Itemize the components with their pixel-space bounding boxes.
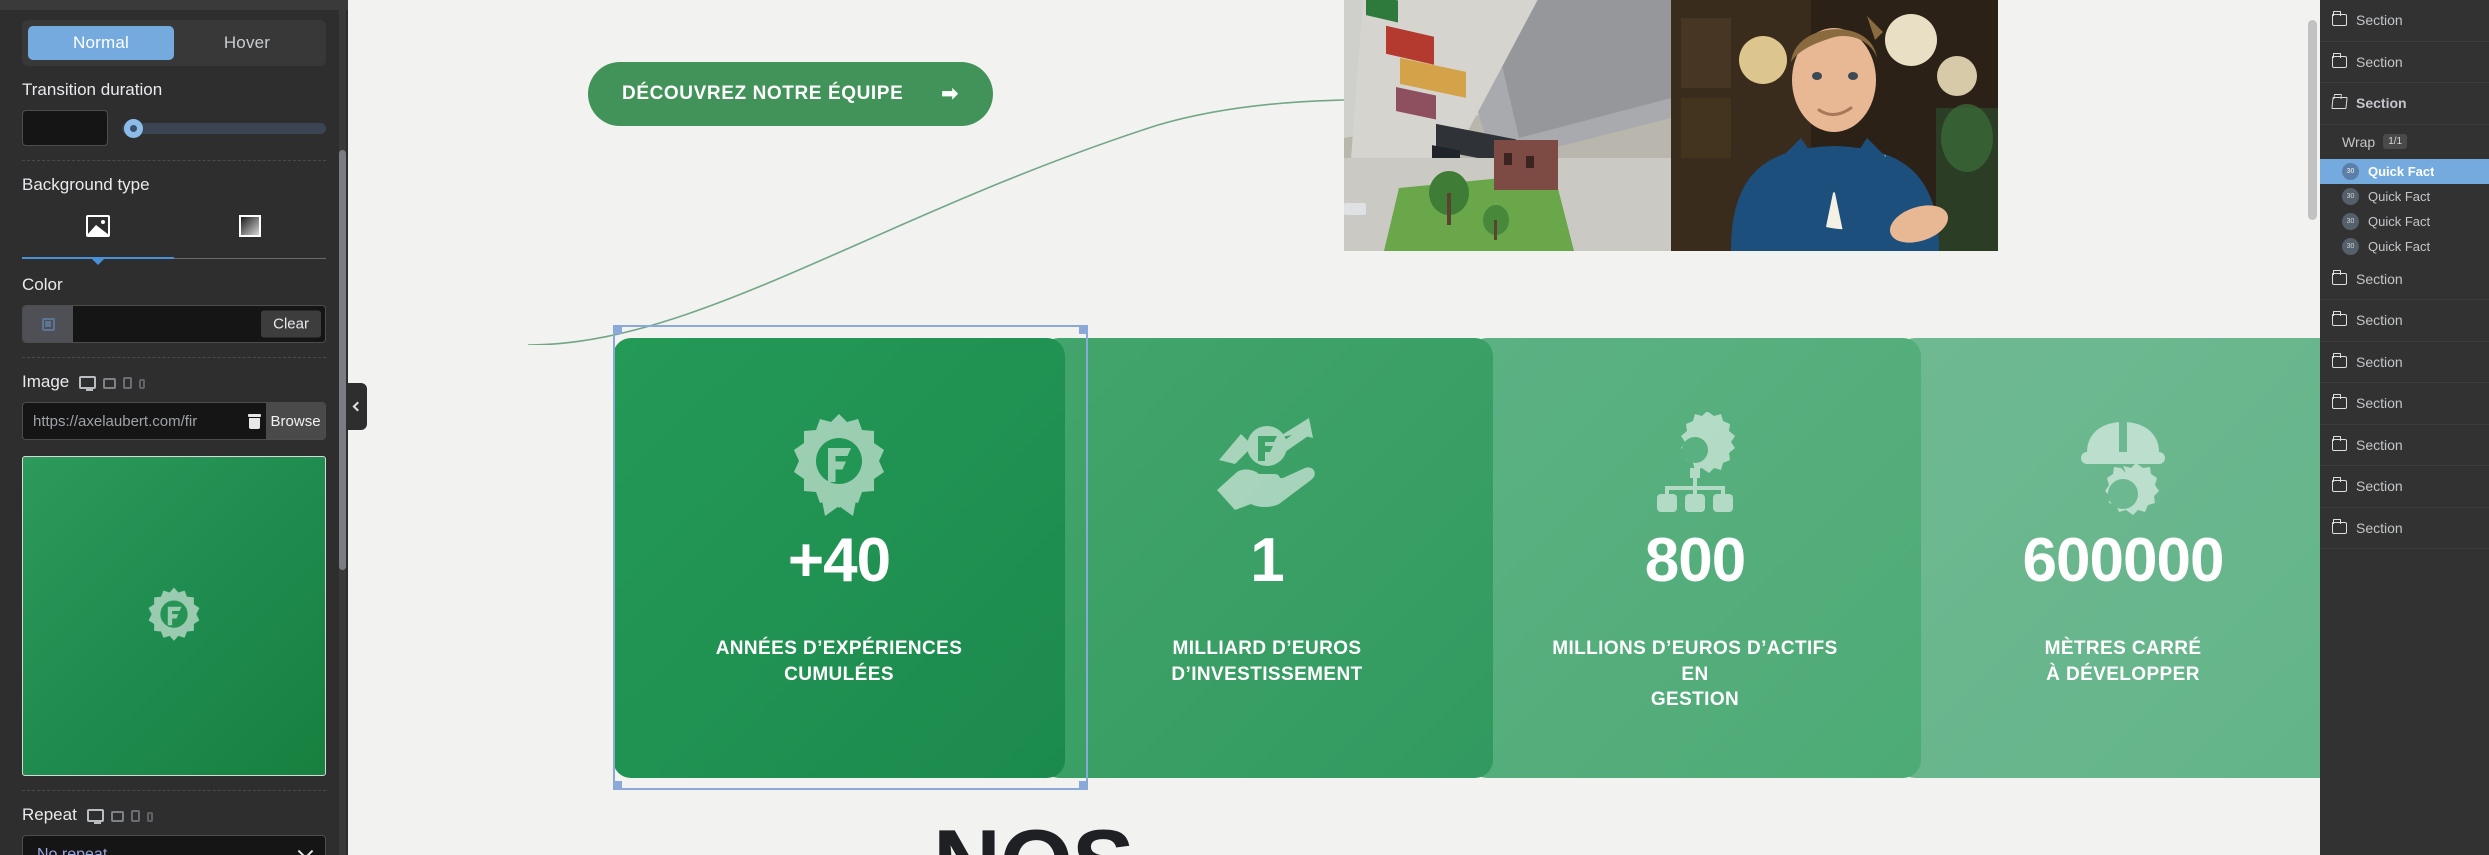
tab-caret-icon [91,258,105,265]
divider [22,790,326,791]
page-canvas: DÉCOUVREZ NOTRE ÉQUIPE ➡ [348,0,2320,855]
card-number: 600000 [2023,530,2224,592]
layer-label: Quick Fact [2368,189,2430,204]
tablet-landscape-icon[interactable] [103,378,116,389]
divider [22,160,326,161]
quick-fact-card[interactable]: +40 ANNÉES D’EXPÉRIENCES CUMULÉES [613,338,1065,778]
resize-handle-top-left[interactable] [613,325,622,334]
tab-normal[interactable]: Normal [28,26,174,60]
mobile-icon[interactable] [147,812,153,822]
warehouse-aerial-photo [1344,0,1671,251]
quick-fact-icon: 30 [2342,163,2359,180]
layer-row-section[interactable]: Section [2320,466,2489,508]
hero-photos [1344,0,1998,251]
layers-panel: SectionSectionSectionWrap1/130Quick Fact… [2320,0,2489,855]
folder-closed-icon [2332,397,2347,409]
quick-fact-card[interactable]: 800 MILLIONS D’EUROS D’ACTIFS EN GESTION [1469,338,1921,778]
gear-org-chart-icon [1647,412,1743,516]
resize-handle-bottom-right[interactable] [1079,781,1088,790]
browse-button[interactable]: Browse [266,403,325,439]
resize-handle-top-right[interactable] [1079,325,1088,334]
image-preview[interactable] [22,456,326,776]
background-type-label: Background type [22,175,326,195]
cta-label: DÉCOUVREZ NOTRE ÉQUIPE [622,83,903,105]
layer-label: Section [2356,478,2403,494]
layer-label: Section [2356,271,2403,287]
card-number: 800 [1645,530,1745,592]
folder-open-icon [2331,97,2347,109]
slider-track [122,123,326,134]
card-icon [1213,412,1321,516]
hard-hat-gear-icon [2075,412,2171,516]
folder-closed-icon [2332,314,2347,326]
transition-duration-input[interactable] [22,110,108,146]
trash-icon [248,414,261,429]
color-label: Color [22,275,326,295]
image-icon [86,215,110,237]
card-label: MILLIARD D’EUROS D’INVESTISSEMENT [1117,636,1417,687]
color-picker-icon [42,318,55,331]
layer-row-quick-fact[interactable]: 30Quick Fact [2320,184,2489,209]
desktop-icon[interactable] [87,809,104,822]
layer-row-quick-fact[interactable]: 30Quick Fact [2320,234,2489,259]
quick-fact-cards: +40 ANNÉES D’EXPÉRIENCES CUMULÉES 1 [613,338,2320,778]
folder-closed-icon [2332,273,2347,285]
slider-handle[interactable] [124,119,143,138]
repeat-select[interactable]: No repeat [22,835,326,855]
quick-fact-icon: 30 [2342,238,2359,255]
card-label: MÈTRES CARRÉ À DÉVELOPPER [1973,636,2273,687]
award-badge-icon [789,412,889,516]
color-row: Clear [22,305,326,343]
delete-image-button[interactable] [242,403,266,439]
folder-closed-icon [2332,14,2347,26]
layer-row-section[interactable]: Section [2320,342,2489,384]
layer-label: Section [2356,312,2403,328]
canvas-scrollbar-thumb[interactable] [2308,20,2317,220]
layer-row-section[interactable]: Section [2320,383,2489,425]
layer-row-section[interactable]: Section [2320,83,2489,125]
layer-label: Section [2356,520,2403,536]
layer-row-section[interactable]: Section [2320,300,2489,342]
folder-closed-icon [2332,439,2347,451]
transition-duration-row [22,110,326,146]
desktop-icon[interactable] [79,376,96,389]
folder-closed-icon [2332,480,2347,492]
background-type-image-tab[interactable] [22,205,174,247]
background-type-tabs [22,205,326,259]
layer-label: Quick Fact [2368,164,2434,179]
layer-label: Section [2356,437,2403,453]
image-device-switcher [79,376,145,389]
layer-label: Section [2356,354,2403,370]
clear-color-button[interactable]: Clear [261,311,321,338]
chevron-left-icon [353,402,363,412]
layer-label: Quick Fact [2368,214,2430,229]
panel-topbar [0,0,348,10]
tab-hover[interactable]: Hover [174,26,320,60]
quick-fact-icon: 30 [2342,213,2359,230]
layer-row-section[interactable]: Section [2320,42,2489,84]
layer-row-wrap[interactable]: Wrap1/1 [2320,125,2489,159]
repeat-label: Repeat [22,805,326,825]
folder-closed-icon [2332,56,2347,68]
mobile-icon[interactable] [139,379,145,389]
card-icon [1647,412,1743,516]
repeat-device-switcher [87,809,153,822]
layer-row-quick-fact[interactable]: 30Quick Fact [2320,159,2489,184]
card-number: +40 [788,530,890,592]
layer-row-section[interactable]: Section [2320,0,2489,42]
tablet-portrait-icon[interactable] [123,377,132,389]
layer-row-section[interactable]: Section [2320,259,2489,301]
card-label: MILLIONS D’EUROS D’ACTIFS EN GESTION [1545,636,1845,713]
resize-handle-bottom-left[interactable] [613,781,622,790]
wrap-count-badge: 1/1 [2383,134,2407,149]
quick-fact-icon: 30 [2342,188,2359,205]
businessman-portrait-photo [1671,0,1998,251]
chevron-down-icon [298,843,314,855]
panel-scrollbar-thumb[interactable] [339,150,346,570]
folder-closed-icon [2332,522,2347,534]
image-label: Image [22,372,326,392]
tablet-portrait-icon[interactable] [131,810,140,822]
card-icon [789,412,889,516]
layer-label: Section [2356,54,2403,70]
award-badge-icon [143,585,205,647]
layer-label: Section [2356,95,2407,111]
discover-team-button[interactable]: DÉCOUVREZ NOTRE ÉQUIPE ➡ [588,62,993,126]
folder-closed-icon [2332,356,2347,368]
tablet-landscape-icon[interactable] [111,811,124,822]
collapse-panel-handle[interactable] [348,383,367,430]
layer-row-section[interactable]: Section [2320,425,2489,467]
arrow-right-icon: ➡ [941,84,958,104]
image-url-row: Browse [22,402,326,440]
layer-list: SectionSectionSectionWrap1/130Quick Fact… [2320,0,2489,549]
layer-label: Wrap [2342,134,2375,150]
background-type-gradient-tab[interactable] [174,205,326,247]
transition-duration-label: Transition duration [22,80,326,100]
card-icon [2075,412,2171,516]
color-value-field[interactable]: Clear [73,306,325,342]
repeat-selected-value: No repeat [37,846,107,855]
transition-duration-slider[interactable] [122,117,326,139]
hand-coin-growth-icon [1213,412,1321,516]
layer-row-section[interactable]: Section [2320,508,2489,550]
card-label: ANNÉES D’EXPÉRIENCES CUMULÉES [689,636,989,687]
state-tabs: Normal Hover [22,20,326,66]
gradient-icon [239,215,261,237]
quick-fact-card[interactable]: 1 MILLIARD D’EUROS D’INVESTISSEMENT [1041,338,1493,778]
card-number: 1 [1250,530,1283,592]
color-swatch-button[interactable] [23,306,73,342]
settings-panel: Normal Hover Transition duration Backgro… [0,0,348,855]
layer-row-quick-fact[interactable]: 30Quick Fact [2320,209,2489,234]
next-section-heading: NOS [933,809,1134,855]
layer-label: Section [2356,12,2403,28]
divider [22,357,326,358]
layer-label: Section [2356,395,2403,411]
quick-fact-card[interactable]: 600000 MÈTRES CARRÉ À DÉVELOPPER [1897,338,2320,778]
image-url-input[interactable] [23,403,242,439]
layer-label: Quick Fact [2368,239,2430,254]
